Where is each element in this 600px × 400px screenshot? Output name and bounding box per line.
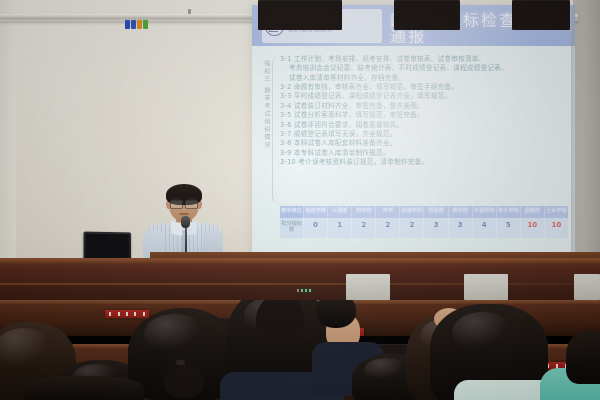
table-header-cell: 动漫学院	[400, 206, 424, 218]
slide-line: 3-7 成绩登记表填写无误，齐全规范。	[280, 130, 568, 139]
table-header-cell: 国教院	[521, 206, 545, 218]
table-cell: 5	[497, 218, 521, 238]
projection-screen: 安徽新华学院 ANHUI XINHUA UNIVERSITY 四、分指标检查结果…	[252, 5, 575, 258]
table-header-cell: 思政部	[424, 206, 448, 218]
rail-hanger-blue-icon	[125, 20, 130, 29]
slide-line: 3-6 试卷评阅符合要求，阅卷质量较高。	[280, 121, 568, 130]
table-cell: 1	[328, 218, 352, 238]
table-header-row: 教学单位 信息学院 公课部 药学院 传学 动漫学院 思政部 商学院 外语学院 电…	[280, 206, 568, 218]
slide-body: 指标三 期末考试组织情况 3-1 工作计划、考场安排、巡考安排、试卷审核表、试卷…	[252, 46, 575, 258]
table-header-cell: 传学	[376, 206, 400, 218]
slide-line: 3-5 试卷分析客观科学，填写规范，审签完备。	[280, 111, 568, 120]
wall-left-edge	[0, 0, 16, 300]
table-cell: 4	[473, 218, 497, 238]
seat-panel-dark	[394, 0, 460, 30]
microphone-head-icon	[181, 216, 190, 228]
rail-clip	[188, 9, 191, 14]
audience-member	[566, 330, 600, 384]
results-table: 教学单位 信息学院 公课部 药学院 传学 动漫学院 思政部 商学院 外语学院 电…	[280, 206, 568, 238]
table-cell: 0	[304, 218, 328, 238]
logo-english-name: ANHUI XINHUA UNIVERSITY	[288, 30, 343, 33]
ponytail	[256, 300, 304, 346]
table-header-cell: 公课部	[328, 206, 352, 218]
podium-highlight	[0, 283, 600, 285]
slide-line: 试卷入库清单等材料齐全，存档完备。	[280, 74, 568, 83]
table-header-label: 教学单位	[280, 206, 304, 218]
hair-highlight	[452, 312, 514, 352]
hair-tie	[176, 360, 185, 365]
screen-right-edge	[571, 5, 575, 258]
table-header-cell: 信息学院	[304, 206, 328, 218]
table-cell: 2	[376, 218, 400, 238]
table-cell: 2	[400, 218, 424, 238]
slide-line: 3-1 工作计划、考场安排、巡考安排、试卷审核表、试卷审核清单、	[280, 55, 568, 64]
hair	[24, 376, 144, 400]
seat-panel-dark	[258, 0, 342, 30]
table-header-cell: 外语学院	[473, 206, 497, 218]
laptop-screen	[84, 232, 131, 261]
table-header-cell: 土木学院	[545, 206, 568, 218]
presenter-mouth	[179, 213, 189, 215]
podium-indicator-lights	[296, 288, 312, 293]
hair-highlight	[144, 314, 206, 354]
table-row-label: 扣分指标数	[280, 218, 304, 238]
slide-line: 3-3 平时成绩登记表、课程成绩登记表齐全，填写规范。	[280, 92, 568, 101]
seat-panel-light	[574, 274, 600, 300]
slide-line: 3-9 本专科试卷入库清单制作规范。	[280, 149, 568, 158]
rail-hanger-orange-icon	[137, 20, 142, 29]
seat-panel-dark	[512, 0, 570, 30]
hair-highlight	[364, 358, 408, 382]
hair	[566, 330, 600, 384]
table-header-cell: 电子学院	[497, 206, 521, 218]
table-cell: 3	[449, 218, 473, 238]
eyeglasses-icon	[170, 200, 198, 207]
lecture-hall-photo: 安徽新华学院 ANHUI XINHUA UNIVERSITY 四、分指标检查结果…	[0, 0, 600, 400]
slide-text-block: 3-1 工作计划、考场安排、巡考安排、试卷审核表、试卷审核清单、 考务培训会会议…	[280, 55, 568, 167]
audience-member	[430, 304, 548, 400]
laptop-display	[86, 234, 129, 259]
slide-side-label: 指标三 期末考试组织情况	[257, 60, 270, 149]
slide-line: 3-4 试卷装订材料齐全，审签完备，整齐美观。	[280, 102, 568, 111]
rail-hanger-green-icon	[143, 20, 148, 29]
ponytail	[164, 364, 204, 398]
audience-member	[316, 300, 370, 356]
audience-member	[24, 376, 144, 400]
table-cell: 3	[424, 218, 448, 238]
table-cell: 10	[545, 218, 568, 238]
table-header-cell: 商学院	[449, 206, 473, 218]
table-header-cell: 药学院	[352, 206, 376, 218]
slide-brace	[272, 56, 280, 204]
seat-panel-light	[464, 274, 508, 300]
podium-top-edge	[0, 258, 600, 264]
slide-line: 考务培训会会议纪要、缺考统计表、平时成绩登记表、课程成绩登记表、	[280, 64, 568, 73]
seat-panel-light	[346, 274, 390, 300]
slide-line: 3-10 考介误考核资料装订规范，清单制作完备。	[280, 158, 568, 167]
rail-hanger-blue2-icon	[131, 20, 136, 29]
slide-line: 3-8 本科试卷入库配套材料准备齐全。	[280, 139, 568, 148]
table-cell: 2	[352, 218, 376, 238]
table-cell: 10	[521, 218, 545, 238]
hair	[316, 300, 356, 328]
table-value-row: 扣分指标数 0 1 2 2 2 3 3 4 5 10 10	[280, 218, 568, 238]
audience-area	[0, 300, 600, 400]
